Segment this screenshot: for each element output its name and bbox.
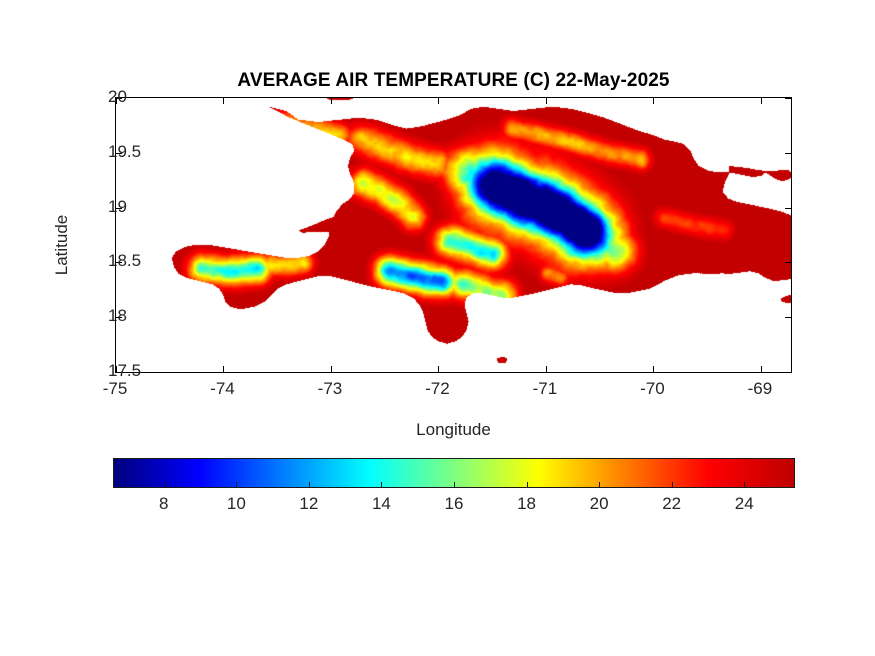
- y-tick: [785, 98, 791, 99]
- x-tick: [546, 366, 547, 372]
- y-tick-label: 17.5: [108, 361, 141, 381]
- colorbar-tick: [599, 482, 600, 488]
- x-tick: [223, 366, 224, 372]
- x-tick: [438, 98, 439, 104]
- colorbar-tick-label: 16: [445, 494, 464, 514]
- x-tick: [546, 98, 547, 104]
- x-tick-label: -75: [103, 379, 128, 399]
- y-tick-label: 19.5: [108, 142, 141, 162]
- x-tick-label: -74: [210, 379, 235, 399]
- x-tick-label: -71: [533, 379, 558, 399]
- y-tick-label: 18: [108, 306, 127, 326]
- x-tick-label: -69: [748, 379, 773, 399]
- x-tick: [438, 366, 439, 372]
- colorbar: [113, 458, 795, 488]
- y-tick: [785, 317, 791, 318]
- x-tick: [653, 366, 654, 372]
- y-tick: [785, 372, 791, 373]
- y-tick-label: 18.5: [108, 251, 141, 271]
- temperature-heatmap: [116, 98, 791, 372]
- y-tick: [785, 262, 791, 263]
- temperature-map-figure: AVERAGE AIR TEMPERATURE (C) 22-May-2025 …: [0, 0, 875, 656]
- y-tick: [785, 208, 791, 209]
- colorbar-tick-label: 8: [159, 494, 168, 514]
- colorbar-tick: [527, 482, 528, 488]
- x-tick: [653, 98, 654, 104]
- colorbar-tick-label: 22: [662, 494, 681, 514]
- y-axis-label: Latitude: [52, 165, 72, 325]
- colorbar-tick-label: 10: [227, 494, 246, 514]
- x-tick: [331, 366, 332, 372]
- page-title: AVERAGE AIR TEMPERATURE (C) 22-May-2025: [115, 70, 792, 92]
- colorbar-tick: [454, 482, 455, 488]
- colorbar-tick: [164, 482, 165, 488]
- y-tick: [785, 153, 791, 154]
- x-tick-label: -73: [318, 379, 343, 399]
- y-tick-label: 19: [108, 197, 127, 217]
- colorbar-tick-label: 18: [517, 494, 536, 514]
- colorbar-tick-label: 20: [590, 494, 609, 514]
- y-tick-label: 20: [108, 87, 127, 107]
- x-tick: [761, 366, 762, 372]
- x-tick-label: -70: [640, 379, 665, 399]
- x-tick: [761, 98, 762, 104]
- colorbar-tick: [236, 482, 237, 488]
- colorbar-tick: [744, 482, 745, 488]
- colorbar-tick: [381, 482, 382, 488]
- colorbar-tick-label: 14: [372, 494, 391, 514]
- colorbar-tick: [672, 482, 673, 488]
- x-tick-label: -72: [425, 379, 450, 399]
- x-tick: [331, 98, 332, 104]
- x-axis-label: Longitude: [115, 420, 792, 440]
- map-axes: [115, 97, 792, 373]
- x-tick: [223, 98, 224, 104]
- colorbar-tick-label: 12: [299, 494, 318, 514]
- colorbar-tick: [309, 482, 310, 488]
- colorbar-tick-label: 24: [735, 494, 754, 514]
